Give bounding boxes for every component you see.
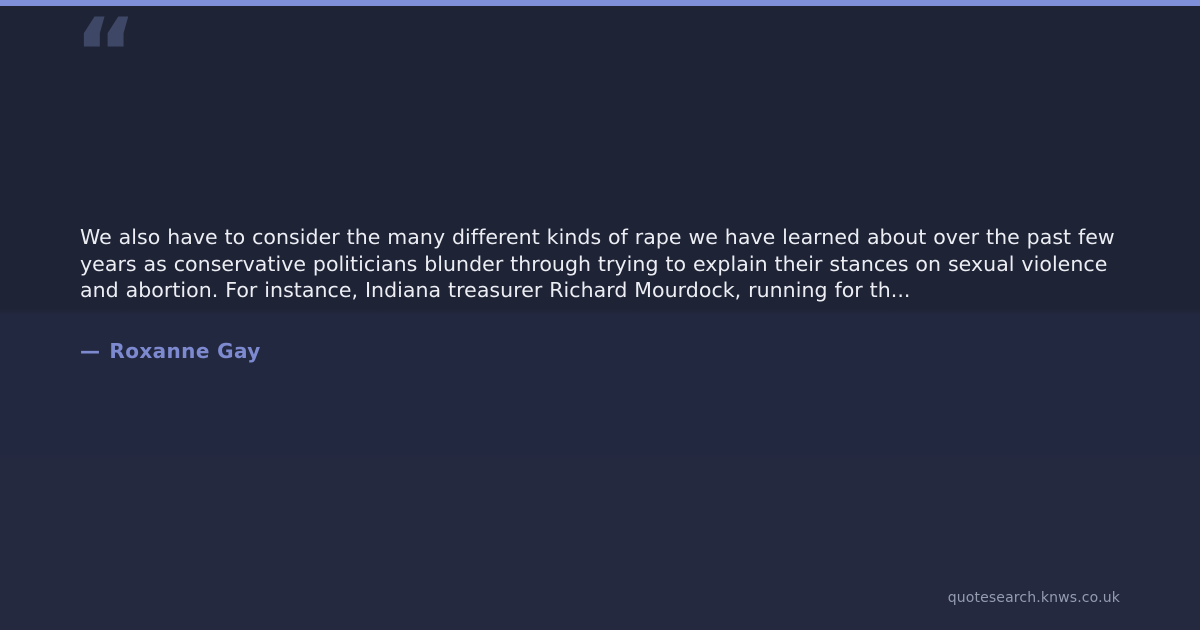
quote-body: We also have to consider the many differ… — [80, 224, 1124, 363]
quote-attribution: —Roxanne Gay — [80, 304, 1124, 363]
source-domain-label: quotesearch.knws.co.uk — [948, 590, 1120, 606]
top-accent-bar — [0, 0, 1200, 6]
open-quote-icon: “ — [74, 6, 135, 102]
quote-card: “ We also have to consider the many diff… — [0, 0, 1200, 630]
quote-text: We also have to consider the many differ… — [80, 224, 1124, 304]
em-dash: — — [80, 339, 109, 363]
author-name: Roxanne Gay — [109, 339, 260, 363]
